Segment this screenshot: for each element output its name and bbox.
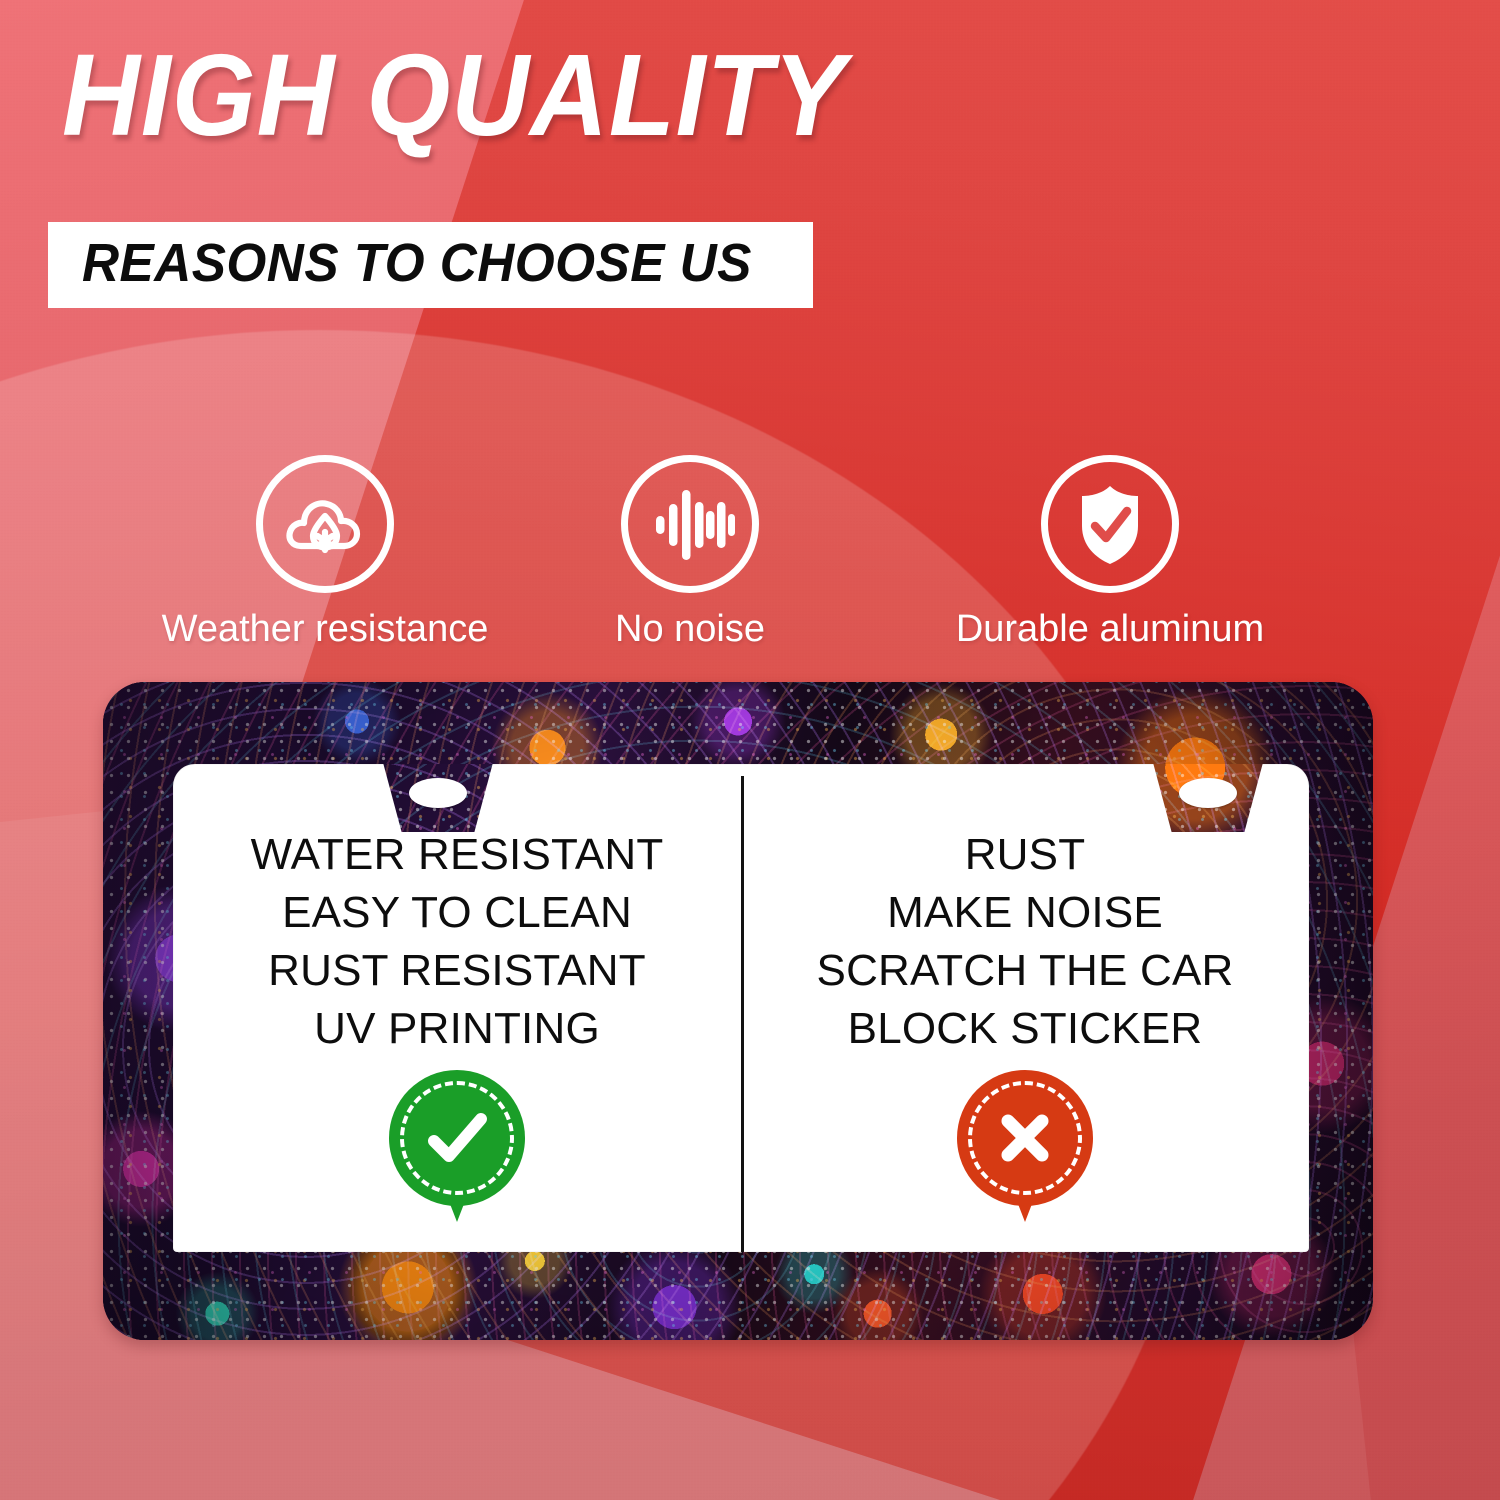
shield-check-icon: [1041, 455, 1179, 593]
cloud-rain-snow-icon: [256, 455, 394, 593]
license-plate-frame: WATER RESISTANT EASY TO CLEAN RUST RESIS…: [103, 682, 1373, 1340]
cons-item: MAKE NOISE: [887, 884, 1163, 942]
pros-item: UV PRINTING: [314, 1000, 600, 1058]
feature-durable-aluminum: Durable aluminum: [840, 455, 1380, 648]
feature-weather-resistance: Weather resistance: [110, 455, 540, 648]
cons-badge: [957, 1070, 1093, 1222]
feature-no-noise: No noise: [540, 455, 840, 648]
feature-label: Weather resistance: [162, 610, 489, 648]
poster-canvas: HIGH QUALITY REASONS TO CHOOSE US Weathe…: [0, 0, 1500, 1500]
comparison-panel: WATER RESISTANT EASY TO CLEAN RUST RESIS…: [173, 764, 1309, 1252]
feature-row: Weather resistance No noise: [110, 455, 1400, 648]
feature-label: No noise: [615, 610, 765, 648]
page-title: HIGH QUALITY: [62, 34, 846, 157]
check-mark-icon: [389, 1070, 525, 1206]
pros-item: RUST RESISTANT: [268, 942, 646, 1000]
subtitle-banner: REASONS TO CHOOSE US: [48, 222, 813, 308]
subtitle-text: REASONS TO CHOOSE US: [82, 236, 752, 290]
pros-item: WATER RESISTANT: [251, 826, 664, 884]
pros-item: EASY TO CLEAN: [282, 884, 632, 942]
pros-badge: [389, 1070, 525, 1222]
cross-mark-icon: [957, 1070, 1093, 1206]
comparison-columns: WATER RESISTANT EASY TO CLEAN RUST RESIS…: [173, 764, 1309, 1252]
feature-label: Durable aluminum: [956, 610, 1264, 648]
cons-item: RUST: [965, 826, 1086, 884]
sound-wave-icon: [621, 455, 759, 593]
cons-item: BLOCK STICKER: [848, 1000, 1203, 1058]
cons-column: RUST MAKE NOISE SCRATCH THE CAR BLOCK ST…: [741, 764, 1309, 1252]
pros-column: WATER RESISTANT EASY TO CLEAN RUST RESIS…: [173, 764, 741, 1252]
cons-item: SCRATCH THE CAR: [817, 942, 1234, 1000]
